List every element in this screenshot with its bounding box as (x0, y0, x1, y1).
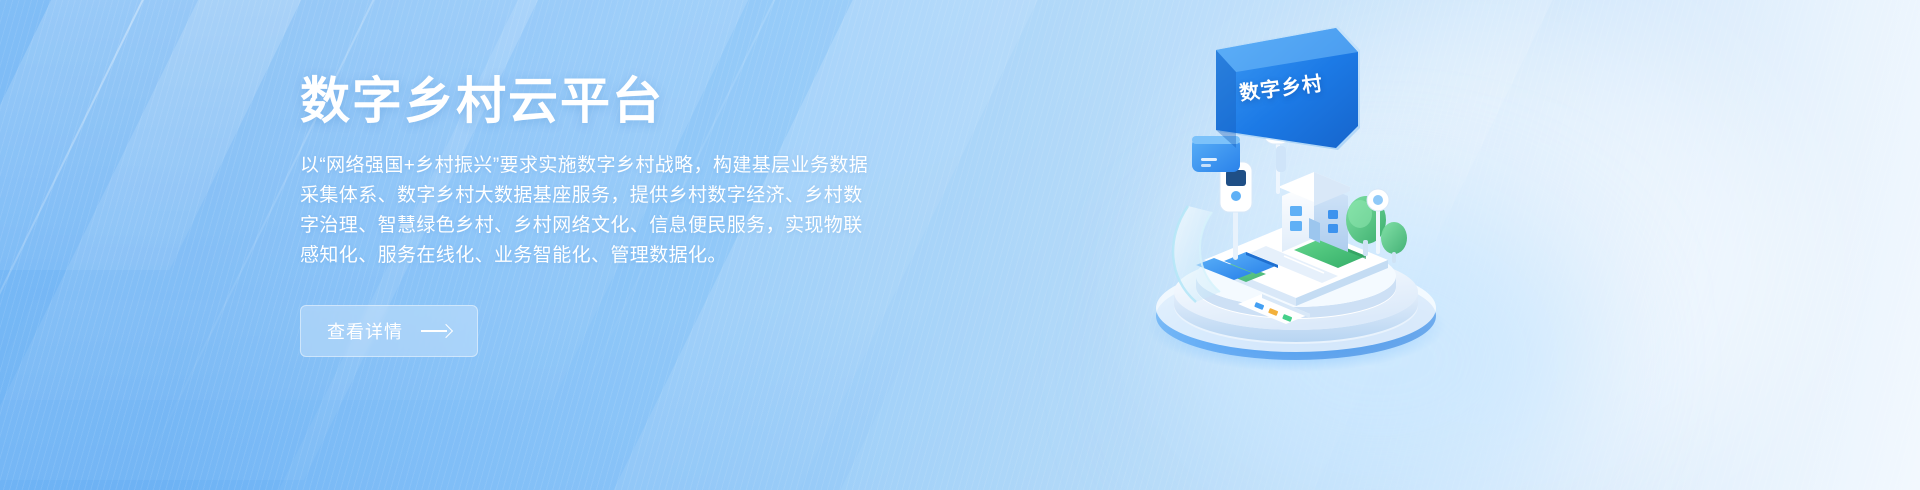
monitor-screen (1226, 170, 1246, 186)
building-window (1290, 221, 1302, 231)
hero-banner: 数字乡村云平台 以“网络强国+乡村振兴”要求实施数字乡村战略，构建基层业务数据采… (0, 0, 1920, 490)
building-window (1328, 224, 1338, 233)
digital-village-illustration: 数字乡村 (1070, 10, 1510, 390)
building-window (1290, 206, 1302, 216)
arrow-right-icon (421, 325, 451, 337)
view-details-button[interactable]: 查看详情 (300, 305, 478, 357)
page-title: 数字乡村云平台 (300, 74, 900, 129)
banner-content: 数字乡村云平台 以“网络强国+乡村振兴”要求实施数字乡村战略，构建基层业务数据采… (300, 74, 900, 357)
banner-description: 以“网络强国+乡村振兴”要求实施数字乡村战略，构建基层业务数据采集体系、数字乡村… (300, 151, 870, 271)
building-window (1328, 210, 1338, 219)
background-decoration (0, 0, 1920, 490)
village-building (1278, 172, 1350, 252)
screen-stand (1276, 146, 1286, 172)
view-details-label: 查看详情 (327, 318, 403, 344)
monitor-indicator (1231, 191, 1241, 201)
tree-small (1381, 222, 1407, 263)
